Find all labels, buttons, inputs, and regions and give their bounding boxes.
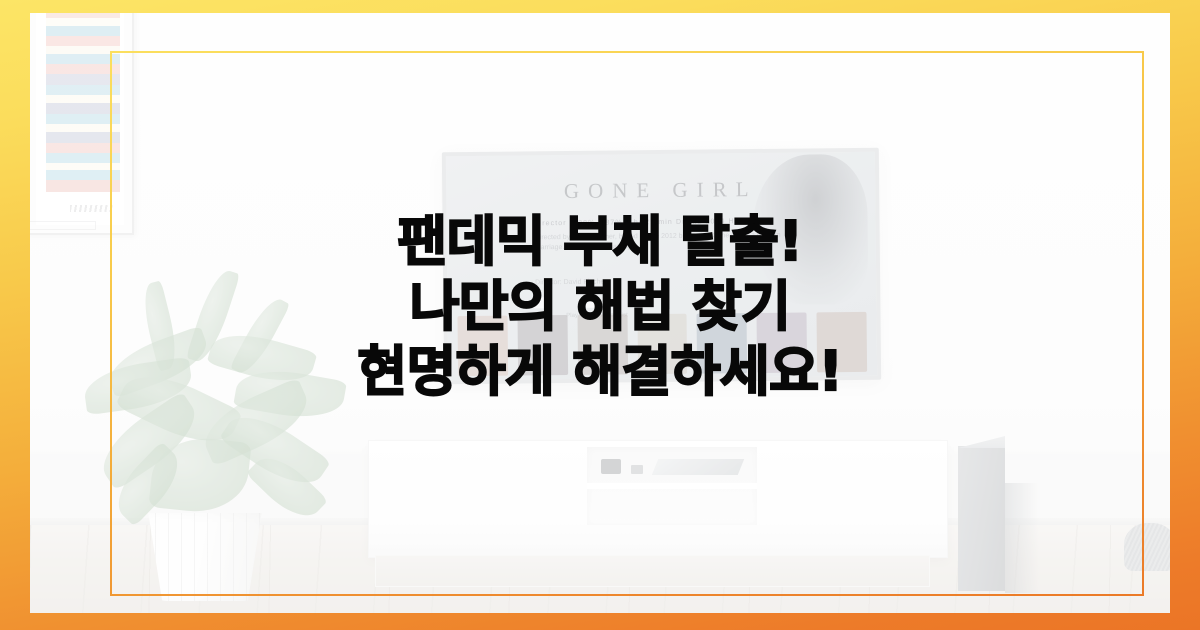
speaker-tower (958, 446, 1005, 591)
console-device-box (601, 459, 621, 474)
console-shelf (587, 483, 757, 489)
console-plinth (375, 555, 930, 587)
art-label-tag (30, 221, 96, 230)
tv-poster (458, 316, 508, 377)
banner-card: GONE GIRL director ● 88% ⌃87% 2 hr 29 mi… (30, 13, 1170, 613)
tv-watchlist-button (629, 296, 640, 307)
tv-button-row (533, 296, 640, 308)
media-console (368, 440, 948, 558)
tv-poster (817, 312, 867, 373)
console-slab-object (652, 459, 744, 475)
tv-screen: GONE GIRL director ● 88% ⌃87% 2 hr 29 mi… (446, 152, 877, 380)
tv-director-credit: Director: David Fincher (535, 279, 607, 287)
tv-poster (757, 312, 807, 373)
tv-trailer-button (533, 297, 549, 308)
tv-poster (637, 314, 687, 375)
speaker-top-bevel (958, 428, 1005, 448)
tv-hero-title: GONE GIRL (446, 176, 875, 205)
tv-poster (577, 314, 627, 375)
woven-basket (1124, 523, 1170, 571)
banner-frame: GONE GIRL director ● 88% ⌃87% 2 hr 29 mi… (0, 0, 1200, 630)
art-stripes (46, 13, 120, 199)
speaker-shadow (1005, 483, 1039, 593)
tv-poster (517, 315, 567, 376)
art-signature (70, 205, 114, 212)
tv-play-button (581, 297, 597, 308)
plant-pot (142, 513, 268, 601)
tv-meta-line: director ● 88% ⌃87% 2 hr 29 min Drama 20… (535, 217, 757, 227)
tv-poster (697, 313, 747, 374)
potted-plant (90, 268, 355, 598)
background-photo: GONE GIRL director ● 88% ⌃87% 2 hr 29 mi… (30, 13, 1170, 613)
television: GONE GIRL director ● 88% ⌃87% 2 hr 29 mi… (442, 148, 881, 385)
console-remote (631, 465, 643, 474)
tv-synopsis: Directed by David Fincher, based on the … (535, 231, 795, 254)
framed-wall-art (30, 13, 134, 235)
tv-poster-row (458, 312, 868, 376)
